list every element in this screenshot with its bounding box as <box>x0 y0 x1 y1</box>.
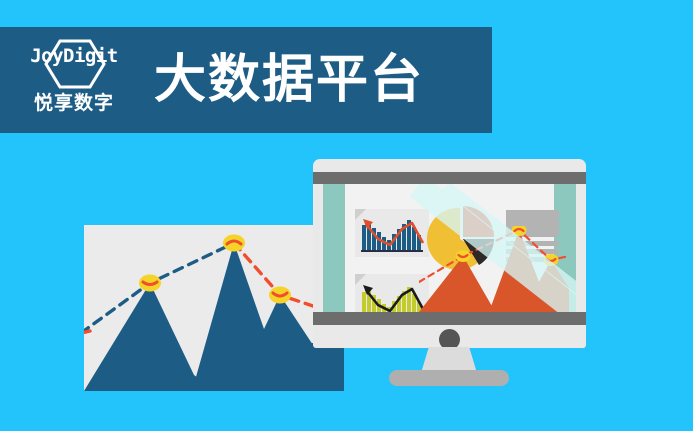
monitor-bottom-bar <box>313 312 586 325</box>
mountain-shape-1 <box>84 283 216 391</box>
data-point-marker <box>139 275 161 292</box>
logo-subtitle: 悦享数字 <box>18 94 130 113</box>
yellow-bar-chart-graphic <box>355 274 429 312</box>
screen-side-band-left <box>323 184 345 312</box>
data-point-marker <box>512 226 527 236</box>
mountain-area-chart <box>84 225 313 391</box>
card-fold-corner <box>355 274 366 285</box>
data-point-marker <box>456 250 471 262</box>
yellow-bar-chart-card[interactable] <box>355 274 429 312</box>
header-banner: JoyDigit 悦享数字 大数据平台 <box>0 27 492 133</box>
desktop-monitor <box>313 159 586 348</box>
orange-mountain-chart <box>419 226 567 312</box>
chart-baseline <box>361 250 423 252</box>
page-title: 大数据平台 <box>154 54 424 106</box>
mountain-chart-graphic <box>84 225 344 391</box>
data-point-marker <box>223 235 245 252</box>
brand-logo: JoyDigit 悦享数字 <box>18 37 130 123</box>
mountain-overflow-block <box>280 343 344 391</box>
blue-bar-chart-card[interactable] <box>355 209 429 257</box>
monitor-stand-base <box>389 370 509 386</box>
monitor-top-bar <box>313 172 586 184</box>
monitor-screen <box>323 184 576 312</box>
poster-canvas: JoyDigit 悦享数字 大数据平台 <box>0 0 693 431</box>
logo-wordmark: JoyDigit <box>18 47 130 66</box>
data-point-marker <box>269 287 291 304</box>
power-button[interactable] <box>439 329 460 350</box>
data-point-marker <box>544 254 559 266</box>
card-fold-corner <box>355 209 366 220</box>
trend-dash-tail <box>84 331 90 333</box>
mountain-shape-3 <box>551 260 569 312</box>
orange-mountain-graphic <box>419 226 569 312</box>
